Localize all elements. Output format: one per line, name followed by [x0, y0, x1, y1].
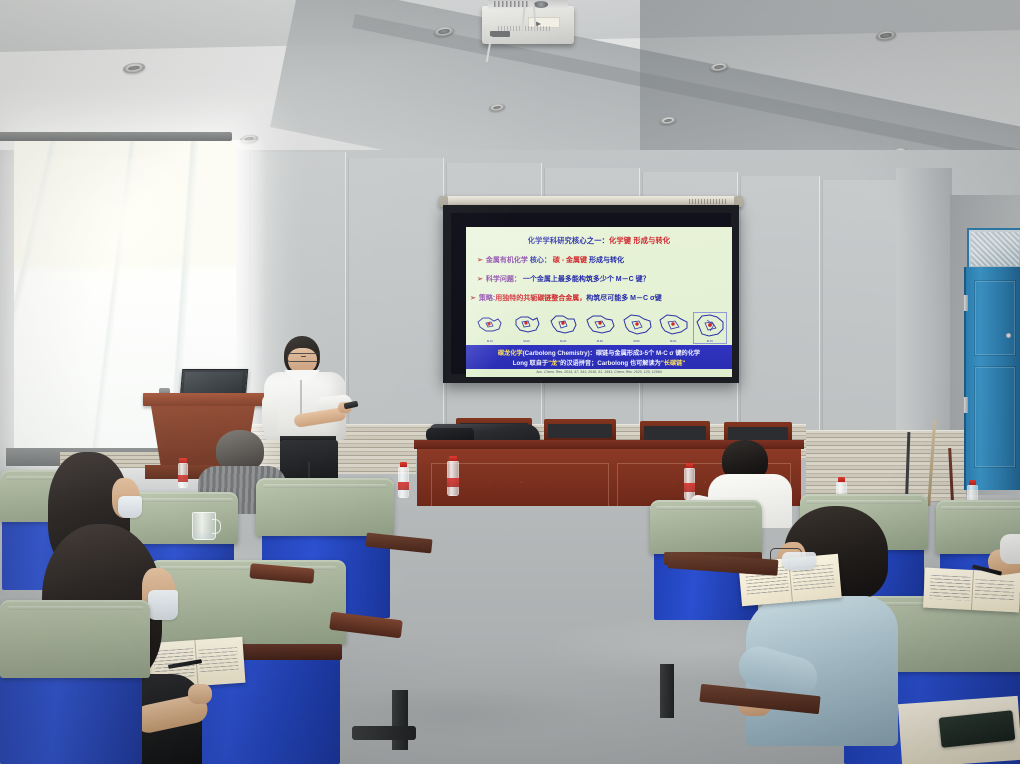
water-bottle[interactable]	[398, 462, 409, 498]
projector-port	[490, 31, 510, 37]
bullet-2-seg1: 科学问题：	[486, 276, 521, 283]
wall-panel	[822, 180, 898, 462]
bullet-marker-icon: ➢	[470, 295, 476, 302]
audience-member	[746, 506, 914, 764]
table-diamond-motif	[489, 482, 551, 499]
door-hinge	[964, 397, 968, 413]
bullet-marker-icon: ➢	[477, 257, 483, 264]
head-table-chair[interactable]	[544, 419, 616, 441]
molecule-structure-highlighted: M-7C	[694, 313, 726, 343]
slide-bullet-3: ➢策略:用独特的共轭碳链整合金属，构筑尽可能多 M－C σ键	[470, 293, 724, 303]
projector-lens-icon	[534, 1, 548, 8]
presentation-slide: 化学学科研究核心之一：化学键 形成与转化 ➢金属有机化学 核心： 碳 - 金属键…	[466, 227, 732, 377]
bullet-3-seg1: 策略:	[479, 295, 495, 302]
laptop-screen-surface	[183, 372, 243, 393]
bottle-body	[398, 467, 409, 498]
band-line2-a: Long 取自于	[513, 360, 548, 367]
audience-sleeve	[1000, 534, 1020, 564]
molecule-diagram-row: M-1C M-2C	[474, 313, 726, 343]
bottle-label	[398, 482, 409, 490]
band-line2-c: Carbolong 也可解读为	[597, 360, 661, 367]
bullet-1-seg1: 金属有机化学	[486, 257, 528, 264]
slide-title: 化学学科研究核心之一：化学键 形成与转化	[466, 236, 732, 246]
band-line-2: Long 取自于"龙"的汉语拼音；Carbolong 也可解读为"长碳链"	[466, 358, 732, 367]
slide-bullet-1: ➢金属有机化学 核心： 碳 - 金属键 形成与转化	[477, 255, 724, 265]
presenter-left-arm	[262, 394, 278, 434]
notebook-lines	[929, 575, 971, 601]
molecule-icon	[657, 313, 689, 337]
band-line2-b: 的汉语拼音；	[560, 360, 597, 367]
door-leaf[interactable]	[964, 267, 1020, 490]
water-bottle[interactable]	[447, 456, 459, 496]
auditorium-seat[interactable]	[0, 600, 150, 764]
molecule-label: M-4C	[584, 340, 616, 343]
face-mask-on-desk[interactable]	[782, 552, 816, 570]
slide-citation: Acc. Chem. Res. 2014, 47, 341; 2018, 51,…	[466, 370, 732, 374]
bullet-3-seg3: 构筑尽可能多 M－C σ键	[586, 295, 662, 302]
bullet-1-seg3: 碳 - 金属键	[553, 257, 587, 264]
molecule-icon	[621, 313, 653, 337]
screen-surface: 化学学科研究核心之一：化学键 形成与转化 ➢金属有机化学 核心： 碳 - 金属键…	[451, 213, 731, 374]
bullet-2-seg2: 一个金属上最多能构筑多少个 M－C 键？	[523, 276, 650, 283]
door-knob[interactable]	[1006, 333, 1011, 338]
face-mask	[148, 590, 178, 620]
seat-leg	[392, 690, 408, 750]
window-sunlight-glow	[22, 158, 222, 298]
face-mask	[118, 496, 142, 518]
seat-leg	[660, 664, 674, 718]
bullet-3-seg2: 用独特的共轭碳链整合金属，	[495, 295, 586, 302]
bullet-1-seg2: 核心：	[530, 257, 551, 264]
bullet-marker-icon: ➢	[477, 276, 483, 283]
wall-panel	[348, 158, 444, 454]
molecule-label: M-6C	[657, 340, 689, 343]
molecule-structure: M-4C	[584, 313, 616, 343]
seat-backrest	[0, 600, 150, 678]
molecule-icon	[511, 313, 543, 337]
glasses-icon	[287, 353, 320, 362]
cup-handle	[212, 519, 221, 534]
lectern-top	[143, 393, 267, 406]
molecule-icon	[547, 313, 579, 337]
water-bottle[interactable]	[684, 463, 695, 500]
slide-bullet-2: ➢科学问题： 一个金属上最多能构筑多少个 M－C 键？	[477, 274, 724, 284]
door-panel	[975, 281, 1015, 355]
molecule-label: M-3C	[547, 340, 579, 343]
notebook-lines	[974, 579, 1014, 602]
room-door[interactable]	[964, 228, 1020, 490]
ceiling-projector	[482, 0, 577, 48]
water-bottle[interactable]	[178, 458, 188, 488]
screen-brand-text	[689, 199, 727, 204]
seat-leg	[352, 726, 416, 740]
slide-title-blue: 化学学科研究核心之一：	[528, 236, 609, 245]
bottle-label	[684, 483, 695, 491]
screen-frame: 化学学科研究核心之一：化学键 形成与转化 ➢金属有机化学 核心： 碳 - 金属键…	[443, 205, 739, 383]
molecule-structure: M-1C	[474, 313, 506, 343]
wall-wainscot	[806, 430, 966, 502]
molecule-label: M-5C	[621, 340, 653, 343]
bottle-label	[447, 478, 459, 487]
lecture-hall-photo: 化学学科研究核心之一：化学键 形成与转化 ➢金属有机化学 核心： 碳 - 金属键…	[0, 0, 1020, 764]
molecule-structure: M-2C	[511, 313, 543, 343]
wall-panel	[740, 176, 820, 460]
molecule-label: M-7C	[694, 340, 726, 343]
glass-cup[interactable]	[192, 512, 216, 540]
molecule-icon	[584, 313, 616, 337]
bullet-1-seg4: 形成与转化	[589, 257, 624, 264]
molecule-structure: M-5C	[621, 313, 653, 343]
projection-screen: 化学学科研究核心之一：化学键 形成与转化 ➢金属有机化学 核心： 碳 - 金属键…	[443, 196, 739, 386]
bottle-body	[178, 463, 188, 488]
bottle-body	[447, 461, 459, 496]
door-hinge	[964, 295, 968, 311]
door-transom-window	[967, 228, 1020, 270]
band-line2-quote1: "龙"	[548, 360, 560, 367]
band-line-1: 碳龙化学(Carbolong Chemistry)：碳链与金属形成3-5个 M-…	[466, 348, 732, 357]
molecule-label: M-1C	[474, 340, 506, 343]
audience-hand	[188, 684, 212, 704]
slide-highlight-band: 碳龙化学(Carbolong Chemistry)：碳链与金属形成3-5个 M-…	[466, 345, 732, 369]
door-panel	[975, 367, 1015, 467]
band-line2-quote2: "长碳链"	[661, 360, 685, 367]
molecule-icon	[694, 313, 726, 339]
bottle-label	[178, 475, 188, 482]
molecule-icon	[474, 313, 506, 337]
band-line1-lead: 碳龙化学	[498, 350, 523, 357]
molecule-structure: M-3C	[547, 313, 579, 343]
molecule-structure: M-6C	[657, 313, 689, 343]
seat-backrest	[256, 478, 394, 536]
slide-title-red: 化学键 形成与转化	[609, 236, 670, 245]
band-line1-mid: (Carbolong Chemistry)：碳链与金属形成3-5个 M-C σ …	[523, 350, 701, 357]
curtain-rod	[0, 132, 232, 141]
molecule-label: M-2C	[511, 340, 543, 343]
